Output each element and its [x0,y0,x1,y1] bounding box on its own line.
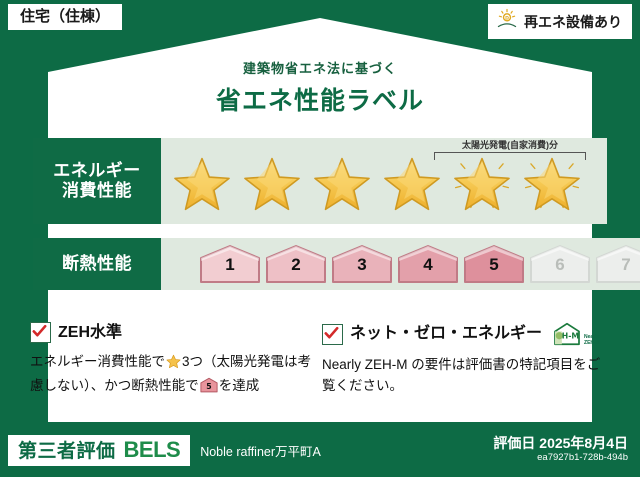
evaluation-uid: ea7927b1-728b-494b [493,452,628,464]
star-icon [166,354,181,376]
energy-performance-label: 住宅（住棟） D 再エネ設備あり 建築物省エネ法に基づく 省エネ性能ラベル [0,0,640,477]
energy-row-label-line1: エネルギー [53,161,141,181]
bels-badge-jp: 第三者評価 [18,442,116,461]
zeh-standard-body: エネルギー消費性能で3つ（太陽光発電は考慮しない）、かつ断熱性能で5を達成 [30,352,320,400]
solar-annotation-caption: 太陽光発電(自家消費)分 [434,141,586,150]
star-filled [309,149,375,213]
net-zero-energy-block: ネット・ゼロ・エネルギー H-M Nearly ZEH-M Nearly ZEH… [322,322,612,397]
zeh-m-logo-caption-line2: ZEH-M [584,340,600,346]
checkbox-checked-icon [30,322,51,343]
insulation-house-on: 3 [331,244,393,284]
insulation-performance-row: 断熱性能 1234567 [33,238,607,290]
zeh-standard-body-part1: エネルギー消費性能で [30,354,165,369]
zeh-standard-title: ZEH水準 [58,325,122,341]
net-zero-energy-body: Nearly ZEH-M の要件は評価書の特記項目をご覧ください。 [322,355,612,397]
building-name: Noble raffiner万平町A [200,441,321,460]
energy-row-label-line2: 消費性能 [62,181,132,201]
insulation-house-number: 7 [595,256,640,273]
svg-text:D: D [505,16,509,22]
sun-icon: D [496,8,518,35]
insulation-house-number: 4 [397,256,459,273]
insulation-house-number: 1 [199,256,261,273]
insulation-house-on: 1 [199,244,261,284]
insulation-house-number: 3 [331,256,393,273]
solar-bracket-line [434,152,586,160]
zeh-m-logo: H-M Nearly ZEH-M [552,322,600,346]
evaluation-date-label: 評価日 [493,435,535,451]
label-title: 建築物省エネ法に基づく 省エネ性能ラベル [0,58,640,117]
zeh-standard-heading: ZEH水準 [30,322,320,343]
insulation-house-on: 5 [463,244,525,284]
title-main: 省エネ性能ラベル [0,81,640,117]
energy-row-label: エネルギー 消費性能 [33,138,161,224]
evaluation-date: 評価日 2025年8月4日 [493,436,628,451]
insulation-house-track: 1234567 [161,238,640,290]
star-filled [239,149,305,213]
insulation-house-on: 4 [397,244,459,284]
insulation-house-on: 2 [265,244,327,284]
zeh-standard-body-part3: を達成 [219,378,260,393]
net-zero-energy-heading: ネット・ゼロ・エネルギー H-M Nearly ZEH-M [322,322,612,346]
zeh-m-logo-caption: Nearly ZEH-M [584,335,600,346]
house-level-icon: 5 [200,377,218,400]
svg-text:H-M: H-M [562,331,579,340]
title-subtitle: 建築物省エネ法に基づく [0,58,640,77]
label-footer: 第三者評価 BELS Noble raffiner万平町A 評価日 2025年8… [0,423,640,477]
bels-badge-en: BELS [124,439,181,461]
solar-annotation: 太陽光発電(自家消費)分 [434,141,586,160]
insulation-house-number: 2 [265,256,327,273]
checkbox-checked-icon [322,324,343,345]
evaluation-date-value: 2025年8月4日 [539,435,628,451]
insulation-row-label: 断熱性能 [33,238,161,290]
evaluation-meta: 評価日 2025年8月4日 ea7927b1-728b-494b [493,436,628,465]
renewable-badge: D 再エネ設備あり [488,4,632,39]
insulation-house-number: 6 [529,256,591,273]
category-badge-label: 住宅（住棟） [20,8,110,25]
net-zero-energy-title: ネット・ゼロ・エネルギー [350,326,542,342]
zeh-m-house-icon: H-M [552,322,582,346]
bels-badge: 第三者評価 BELS [8,435,190,466]
category-badge: 住宅（住棟） [8,4,122,30]
insulation-house-number: 5 [463,256,525,273]
insulation-row-label-text: 断熱性能 [62,254,132,274]
insulation-house-off: 7 [595,244,640,284]
renewable-badge-label: 再エネ設備あり [524,15,622,29]
svg-text:5: 5 [206,382,211,391]
star-filled [169,149,235,213]
insulation-house-off: 6 [529,244,591,284]
zeh-standard-block: ZEH水準 エネルギー消費性能で3つ（太陽光発電は考慮しない）、かつ断熱性能で5… [30,322,320,400]
